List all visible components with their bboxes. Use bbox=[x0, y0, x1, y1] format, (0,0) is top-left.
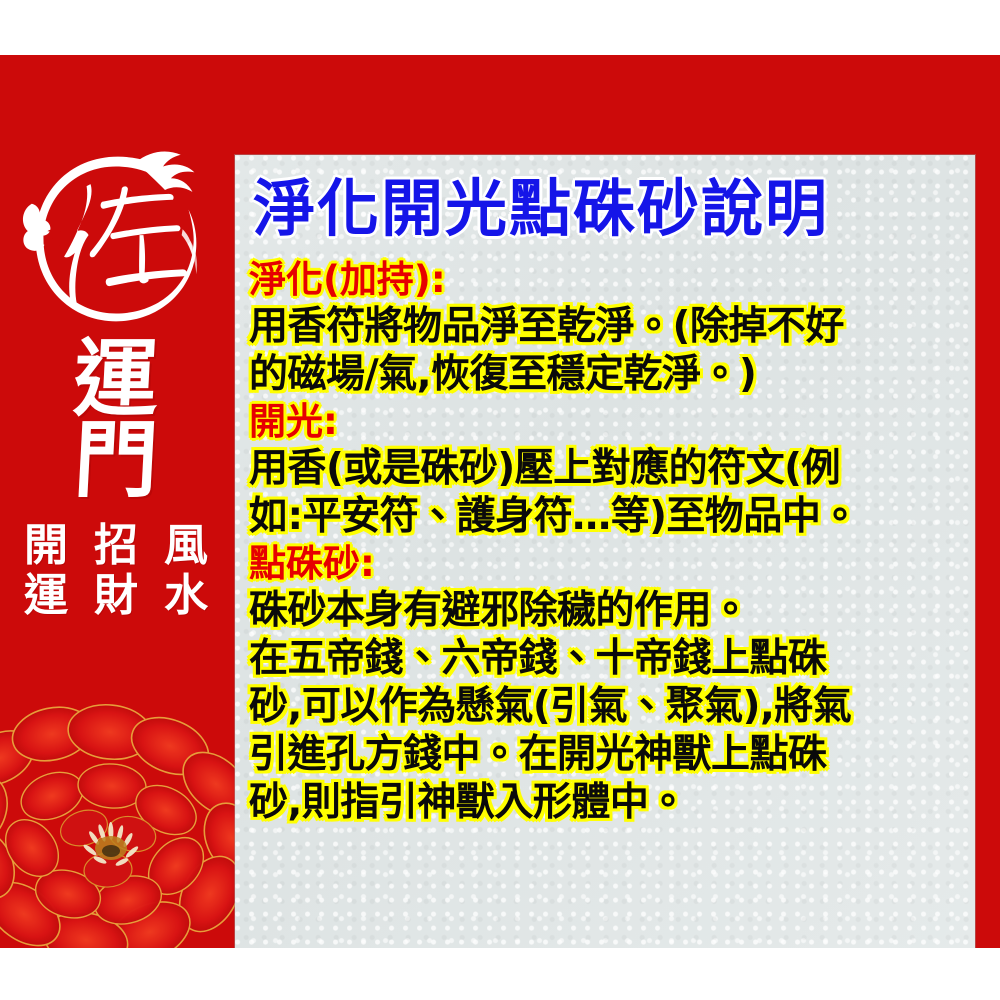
section-line: 引進孔方錢中。在開光神獸上點硃 bbox=[249, 731, 965, 779]
section-line: 砂,可以作為懸氣(引氣、聚氣),將氣 bbox=[249, 683, 965, 731]
slogan-char-2: 招 bbox=[86, 522, 146, 570]
brand-seal-logo bbox=[18, 141, 214, 337]
slogan-char-3: 風 bbox=[156, 522, 216, 570]
brand-column: 運 門 開 招 風 運 財 水 bbox=[0, 115, 232, 775]
slogan-char-4: 運 bbox=[16, 572, 76, 620]
section-line: 的磁場/氣,恢復至穩定乾淨。) bbox=[249, 351, 965, 399]
section-heading: 淨化(加持): bbox=[249, 257, 965, 303]
section-consecration: 開光: 用香(或是硃砂)壓上對應的符文(例 如:平安符、護身符…等)至物品中。 bbox=[249, 399, 965, 541]
section-heading: 開光: bbox=[249, 399, 965, 445]
section-line: 在五帝錢、六帝錢、十帝錢上點硃 bbox=[249, 635, 965, 683]
section-heading: 點硃砂: bbox=[249, 541, 965, 587]
slogan-char-1: 開 bbox=[16, 522, 76, 570]
content-paper-panel: 淨化開光點硃砂說明 淨化(加持): 用香符將物品淨至乾淨。(除掉不好 的磁場/氣… bbox=[235, 155, 975, 948]
slogan-char-5: 財 bbox=[86, 572, 146, 620]
section-cinnabar-dotting: 點硃砂: 硃砂本身有避邪除穢的作用。 在五帝錢、六帝錢、十帝錢上點硃 砂,可以作… bbox=[249, 541, 965, 827]
poster-root: 運 門 開 招 風 運 財 水 淨化開光點硃砂說明 淨化(加持): 用香符將物品… bbox=[0, 0, 1000, 1000]
section-purification: 淨化(加持): 用香符將物品淨至乾淨。(除掉不好 的磁場/氣,恢復至穩定乾淨。) bbox=[249, 257, 965, 399]
page-title: 淨化開光點硃砂說明 bbox=[249, 169, 965, 249]
brand-slogan: 開 招 風 運 財 水 bbox=[16, 522, 216, 620]
section-line: 硃砂本身有避邪除穢的作用。 bbox=[249, 587, 965, 635]
section-line: 用香(或是硃砂)壓上對應的符文(例 bbox=[249, 445, 965, 493]
red-background-band: 運 門 開 招 風 運 財 水 淨化開光點硃砂說明 淨化(加持): 用香符將物品… bbox=[0, 55, 1000, 948]
document-body: 淨化(加持): 用香符將物品淨至乾淨。(除掉不好 的磁場/氣,恢復至穩定乾淨。)… bbox=[249, 257, 965, 827]
brand-name-char-1: 運 bbox=[72, 339, 160, 420]
brand-name-vertical: 運 門 bbox=[74, 339, 158, 500]
section-line: 砂,則指引神獸入形體中。 bbox=[249, 779, 965, 827]
section-line: 用香符將物品淨至乾淨。(除掉不好 bbox=[249, 303, 965, 351]
section-line: 如:平安符、護身符…等)至物品中。 bbox=[249, 493, 965, 541]
brand-name-char-2: 門 bbox=[72, 420, 160, 501]
slogan-char-6: 水 bbox=[156, 572, 216, 620]
